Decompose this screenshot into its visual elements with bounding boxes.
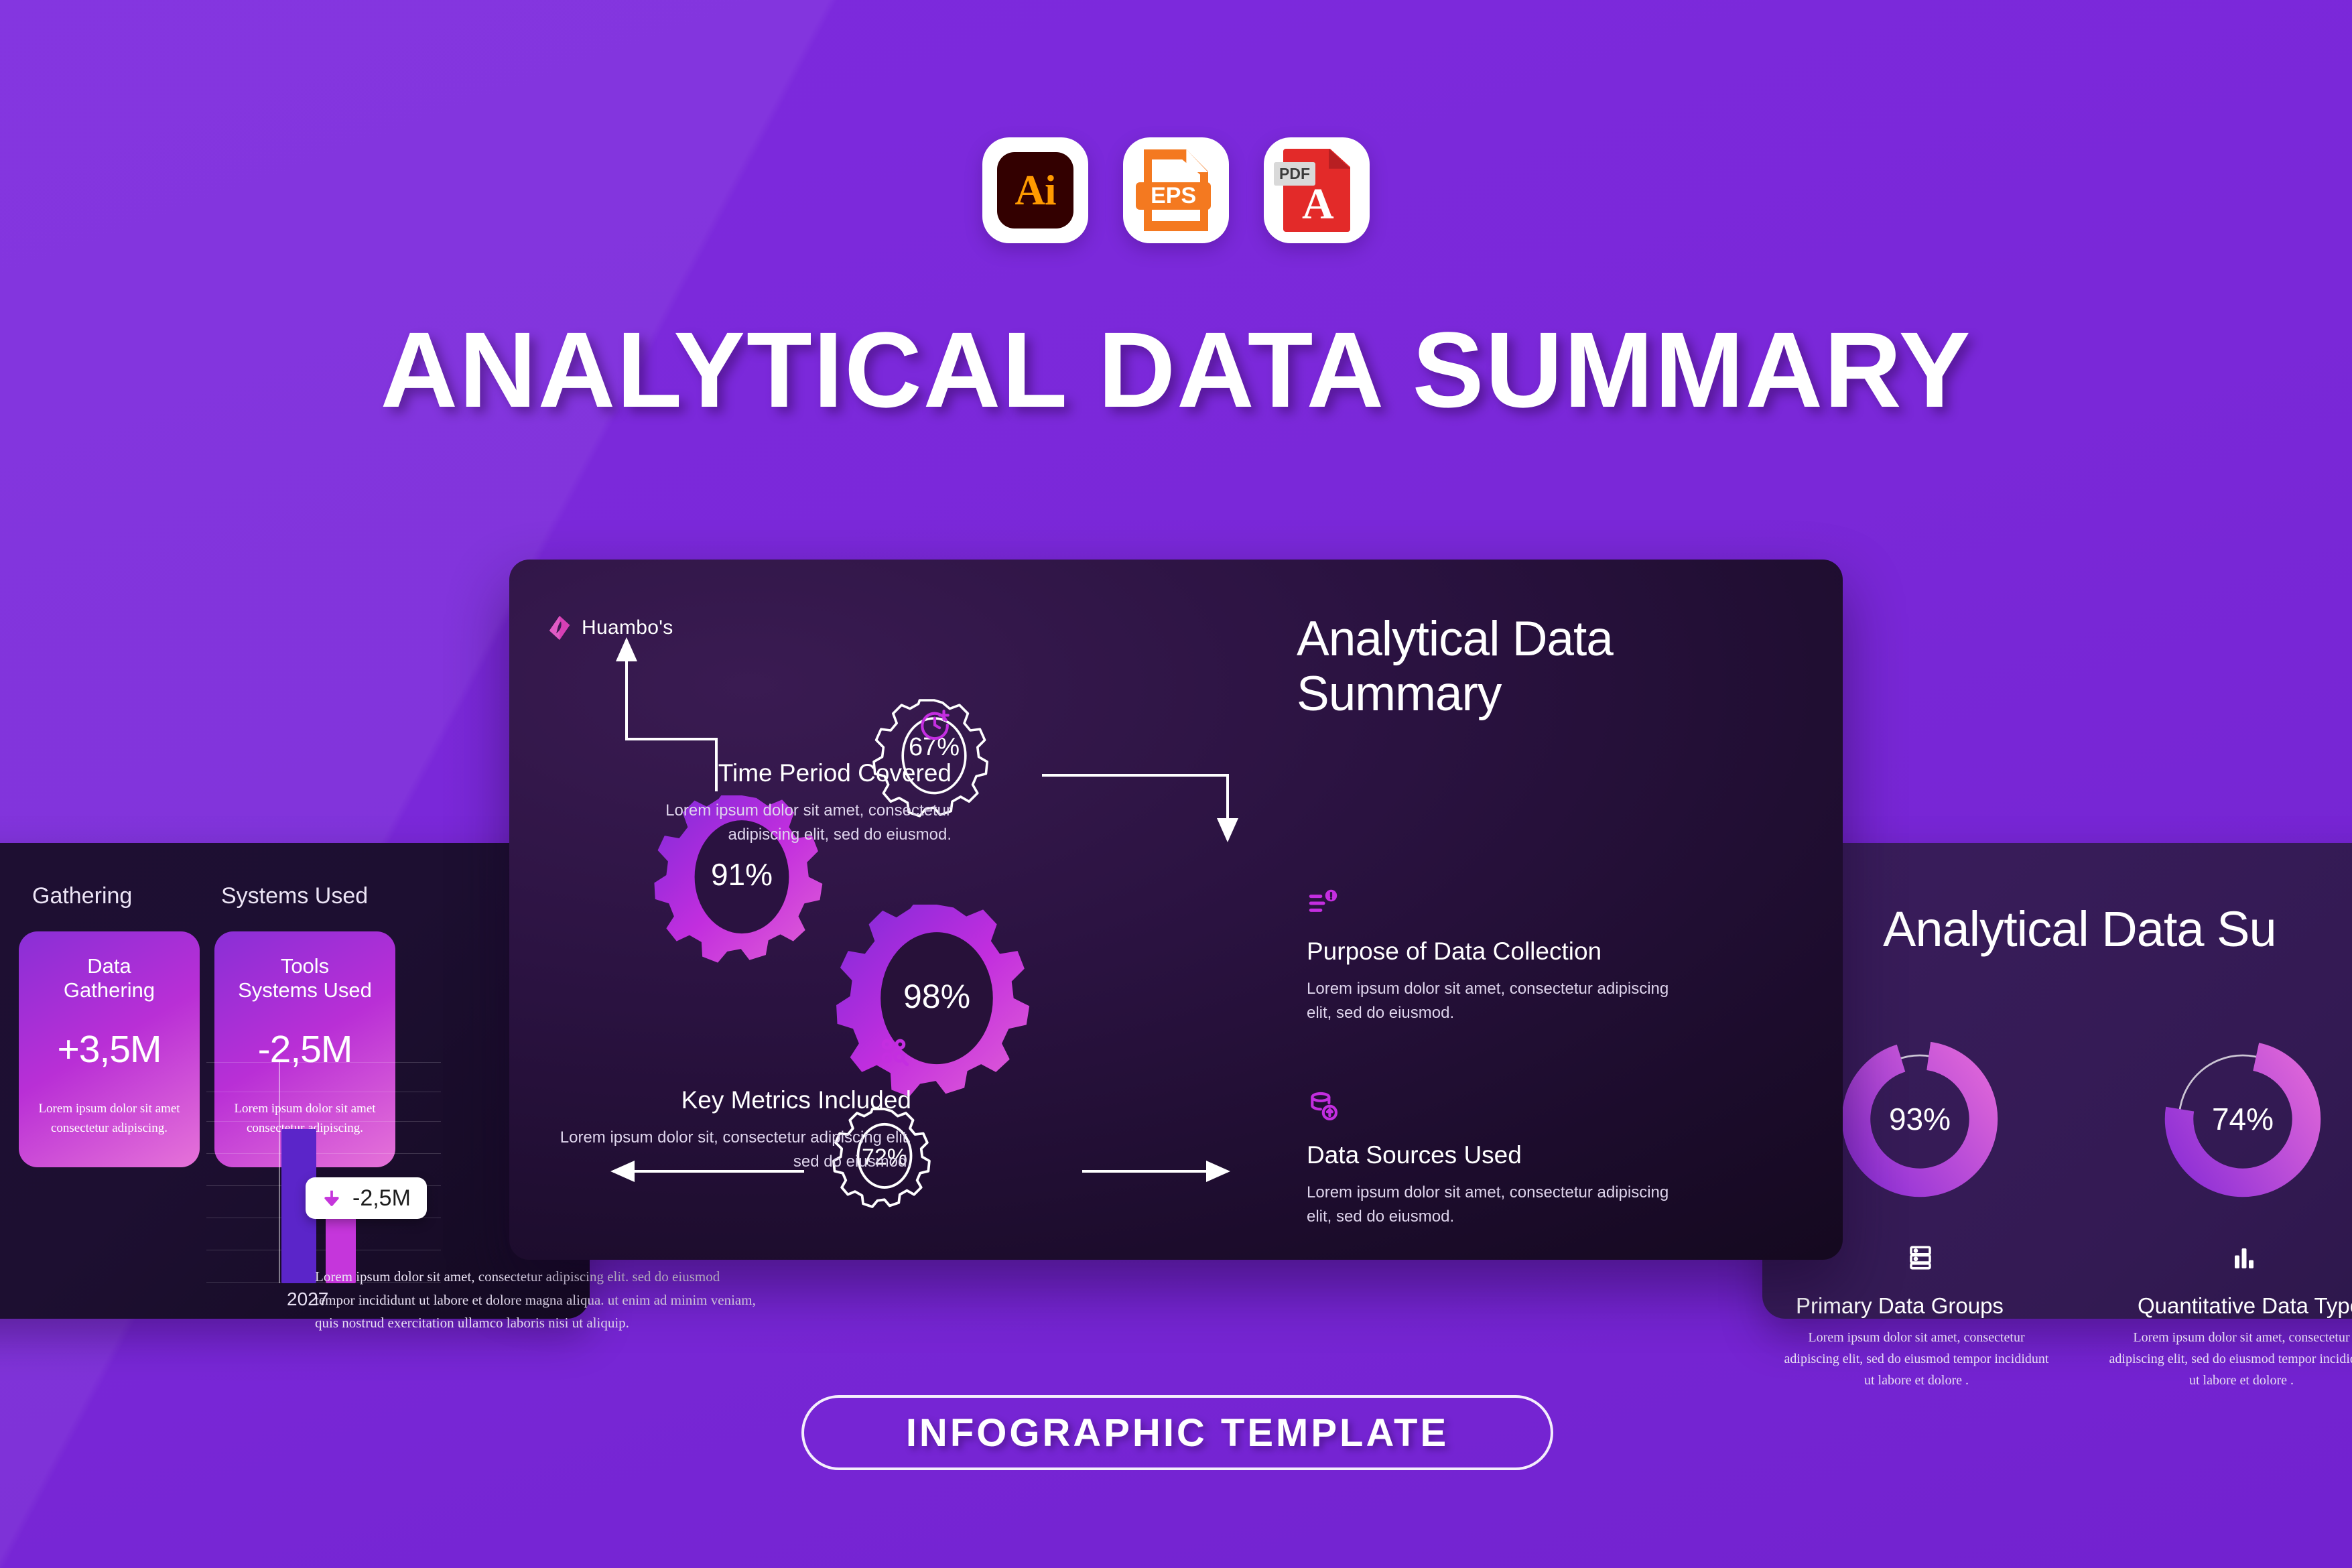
ai-badge[interactable]: Ai bbox=[982, 137, 1088, 243]
bar-value-badge-label: -2,5M bbox=[352, 1185, 411, 1212]
donut-label-2: 74% bbox=[2159, 1035, 2327, 1203]
poster-stage: Ai EPS PDF A ANALYTICAL DATA SUMMARY ta … bbox=[0, 0, 2352, 1568]
mini-card-desc: Lorem ipsum dolor sit amet consectetur a… bbox=[34, 1100, 185, 1138]
left-mini-card-1[interactable]: Data Gathering +3,5M Lorem ipsum dolor s… bbox=[19, 931, 200, 1167]
mini-card-value: +3,5M bbox=[34, 1027, 185, 1071]
metrics-search-icon bbox=[536, 1035, 911, 1071]
block-time-period-covered[interactable]: Time Period Covered Lorem ipsum dolor si… bbox=[590, 708, 952, 847]
ai-badge-label: Ai bbox=[997, 152, 1073, 228]
block-desc: Lorem ipsum dolor sit amet, consectetur … bbox=[1307, 977, 1682, 1025]
block-key-metrics-included[interactable]: Key Metrics Included Lorem ipsum dolor s… bbox=[536, 1035, 911, 1174]
gear-label-98: 98% bbox=[897, 976, 977, 1017]
eps-badge[interactable]: EPS bbox=[1123, 137, 1229, 243]
block-purpose-of-data-collection[interactable]: Purpose of Data Collection Lorem ipsum d… bbox=[1307, 887, 1682, 1025]
right-item-desc-1: Lorem ipsum dolor sit amet, consectetur … bbox=[1782, 1327, 2050, 1391]
format-badge-row: Ai EPS PDF A bbox=[0, 137, 2352, 243]
mini-card-title: Data Gathering bbox=[34, 954, 185, 1002]
eps-document-icon: EPS bbox=[1144, 149, 1208, 231]
clock-plus-icon bbox=[590, 708, 952, 744]
block-title: Key Metrics Included bbox=[536, 1086, 911, 1115]
block-title: Data Sources Used bbox=[1307, 1141, 1682, 1170]
gear-label-91: 91% bbox=[702, 854, 782, 895]
pdf-document-icon: PDF A bbox=[1283, 149, 1350, 232]
infographic-template-button[interactable]: INFOGRAPHIC TEMPLATE bbox=[801, 1395, 1553, 1470]
priority-alert-icon bbox=[1307, 887, 1682, 923]
block-title: Purpose of Data Collection bbox=[1307, 937, 1682, 966]
mini-card-title: Tools Systems Used bbox=[229, 954, 381, 1002]
right-item-desc-2: Lorem ipsum dolor sit amet, consectetur … bbox=[2107, 1327, 2352, 1391]
left-card-paragraph: Lorem ipsum dolor sit amet, consectetur … bbox=[315, 1265, 757, 1335]
left-bar-chart: -2,5M 2027 bbox=[206, 1062, 441, 1283]
donut-chart-2: 74% bbox=[2159, 1035, 2327, 1203]
server-icon bbox=[1906, 1242, 1935, 1277]
main-slide-card[interactable]: Huambo's Analytical Data Summary bbox=[509, 560, 1843, 1260]
block-data-sources-used[interactable]: Data Sources Used Lorem ipsum dolor sit … bbox=[1307, 1090, 1682, 1229]
block-desc: Lorem ipsum dolor sit, consectetur adipi… bbox=[536, 1126, 911, 1174]
left-col-header-1: Gathering bbox=[32, 883, 132, 909]
right-item-title-1: Primary Data Groups bbox=[1796, 1293, 2004, 1319]
block-title: Time Period Covered bbox=[590, 759, 952, 788]
eps-badge-label: EPS bbox=[1136, 182, 1210, 210]
right-item-title-2: Quantitative Data Types bbox=[2138, 1293, 2352, 1319]
bar-value-badge: -2,5M bbox=[306, 1177, 427, 1219]
arrow-down-icon bbox=[322, 1187, 342, 1210]
database-upload-icon bbox=[1307, 1090, 1682, 1126]
pdf-badge[interactable]: PDF A bbox=[1264, 137, 1370, 243]
block-desc: Lorem ipsum dolor sit amet, consectetur … bbox=[1307, 1181, 1682, 1229]
page-title: ANALYTICAL DATA SUMMARY bbox=[0, 308, 2352, 432]
donut-chart-1: 93% bbox=[1836, 1035, 2004, 1203]
donut-label-1: 93% bbox=[1836, 1035, 2004, 1203]
bar-chart-icon bbox=[2230, 1242, 2258, 1277]
left-col-header-2: Systems Used bbox=[221, 883, 368, 909]
block-desc: Lorem ipsum dolor sit amet, consectetur … bbox=[590, 799, 952, 847]
right-card-title: Analytical Data Su bbox=[1883, 901, 2276, 958]
